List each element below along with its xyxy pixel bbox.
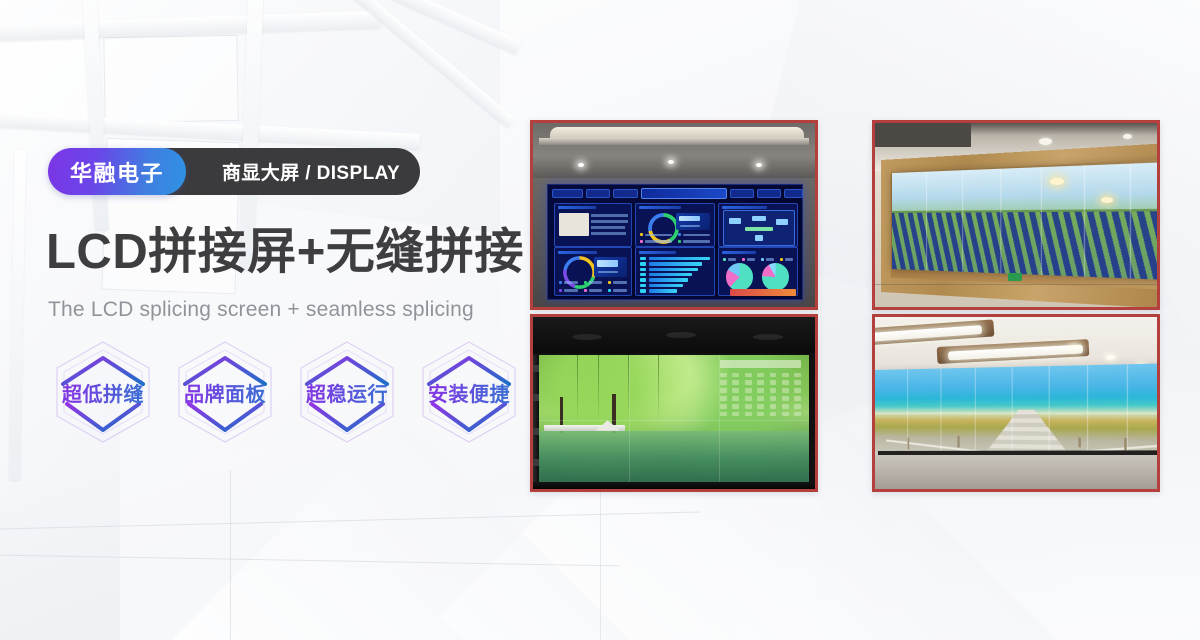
calendar-overlay xyxy=(720,360,801,415)
gallery-photo-solar-farm-video-wall[interactable] xyxy=(872,120,1160,310)
wall-base xyxy=(533,482,815,489)
dashboard-panel xyxy=(554,203,632,248)
solar-panel-array xyxy=(892,211,1160,280)
kpi-card xyxy=(594,257,627,277)
dashboard-panel xyxy=(554,247,632,296)
feature-badge-row: 超低拼缝 xyxy=(44,336,528,448)
kpi-value xyxy=(679,216,700,222)
kpi-label xyxy=(680,225,700,227)
video-wall-screen xyxy=(539,355,810,486)
feature-badge-label: 超稳运行 xyxy=(288,336,406,448)
downlight xyxy=(1070,345,1079,350)
page-title: LCD拼接屏+无缝拼接 xyxy=(46,228,524,277)
kpi-label xyxy=(598,271,617,274)
dashboard-tab xyxy=(757,189,781,198)
ceiling-light xyxy=(1039,138,1052,145)
chart-legend xyxy=(640,232,710,243)
gallery-photo-beach-boardwalk-video-wall[interactable] xyxy=(872,314,1160,492)
dashboard-panel xyxy=(635,203,715,248)
dashboard-footer-badge xyxy=(730,289,795,296)
content-column: 商显大屏 / DISPLAY 华融电子 LCD拼接屏+无缝拼接 The LCD … xyxy=(44,0,544,640)
feature-badge-label: 安装便捷 xyxy=(410,336,528,448)
video-wall-screen xyxy=(875,363,1160,463)
feature-badge-label: 品牌面板 xyxy=(166,336,284,448)
gallery-photo-dashboard-video-wall[interactable] xyxy=(530,120,818,310)
video-wall-screen xyxy=(547,184,803,300)
dashboard-title-bar xyxy=(641,188,727,199)
pie-charts xyxy=(722,262,794,291)
calendar-title xyxy=(720,360,801,368)
chart-legend xyxy=(559,279,627,293)
exit-sign xyxy=(1008,273,1022,281)
page-subtitle: The LCD splicing screen + seamless splic… xyxy=(48,298,474,322)
kpi-value xyxy=(597,260,618,267)
dashboard-tab xyxy=(730,189,754,198)
wall-sconce xyxy=(1101,197,1113,203)
brand-name-pill: 华融电子 xyxy=(48,148,186,195)
feature-badge-label: 超低拼缝 xyxy=(44,336,162,448)
dashboard-tab xyxy=(586,189,610,198)
video-wall-screen xyxy=(892,161,1160,280)
kpi-card xyxy=(676,213,710,230)
promo-banner: 商显大屏 / DISPLAY 华融电子 LCD拼接屏+无缝拼接 The LCD … xyxy=(0,0,1200,640)
dashboard-panel xyxy=(635,247,715,296)
feature-badge: 安装便捷 xyxy=(410,336,528,448)
ceiling-cove xyxy=(539,138,810,145)
bar-chart xyxy=(640,257,710,293)
brand-name-label: 华融电子 xyxy=(70,156,164,188)
feature-badge: 超低拼缝 xyxy=(44,336,162,448)
brand-pill: 商显大屏 / DISPLAY 华融电子 xyxy=(48,148,186,195)
panel-thumbnail xyxy=(559,213,589,236)
lake-reflection xyxy=(539,431,810,486)
dashboard-header xyxy=(552,188,799,200)
feature-badge: 超稳运行 xyxy=(288,336,406,448)
pie-chart xyxy=(762,263,789,290)
pie-chart xyxy=(726,263,753,290)
downlight xyxy=(1106,355,1115,360)
feature-badge: 品牌面板 xyxy=(166,336,284,448)
dashboard-panel xyxy=(718,203,798,248)
brand-category-label: 商显大屏 / DISPLAY xyxy=(222,158,400,185)
gallery-photo-park-scene-video-wall[interactable] xyxy=(530,314,818,492)
calendar-grid xyxy=(720,373,801,417)
dashboard xyxy=(549,186,801,298)
dashboard-tab xyxy=(784,189,803,198)
flow-diagram xyxy=(723,210,795,245)
ceiling-beam xyxy=(9,150,26,480)
ceiling-soffit xyxy=(875,123,971,147)
floor-line xyxy=(875,284,1157,285)
background-hairline xyxy=(600,480,601,640)
dashboard-tab xyxy=(613,189,637,198)
floor xyxy=(875,455,1157,489)
dashboard-tab xyxy=(552,189,584,198)
